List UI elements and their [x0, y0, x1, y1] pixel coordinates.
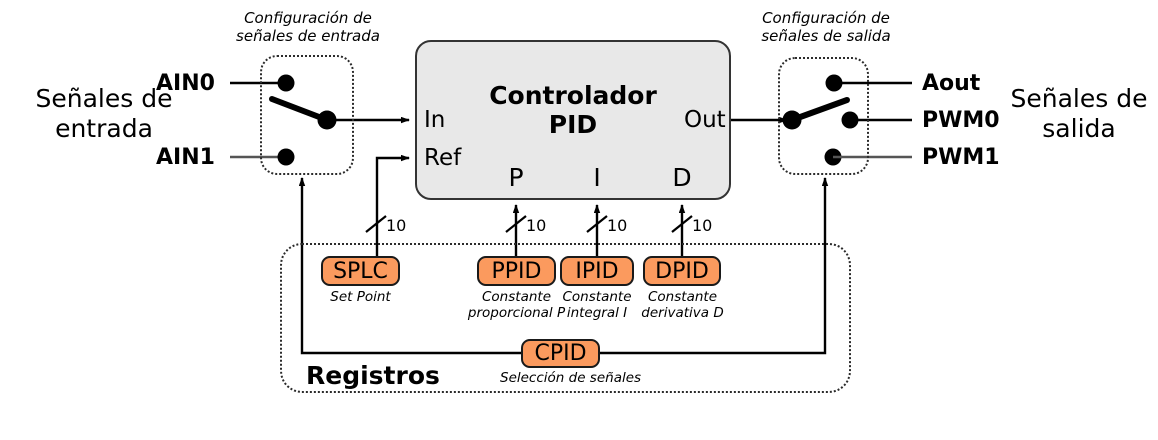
- input-config-caption-line2: señales de entrada: [222, 28, 394, 46]
- register-splc[interactable]: SPLC: [321, 256, 400, 286]
- pid-port-out: Out: [684, 107, 726, 134]
- bus-width-p: 10: [526, 217, 546, 236]
- input-group-line2: entrada: [4, 114, 204, 144]
- output-config-caption: Configuración de señales de salida: [740, 10, 912, 45]
- signal-label-pwm0: PWM0: [922, 108, 1000, 134]
- signal-label-ain1: AIN1: [156, 145, 215, 171]
- register-ipid-caption-line1: Constante: [550, 290, 644, 306]
- input-config-box[interactable]: [260, 55, 354, 175]
- output-config-box[interactable]: [778, 57, 869, 175]
- pid-port-in: In: [424, 107, 445, 134]
- signal-label-aout: Aout: [922, 71, 980, 97]
- output-signals-group-label: Señales de salida: [1000, 84, 1158, 143]
- output-group-line1: Señales de: [1000, 84, 1158, 114]
- register-cpid-caption: Selección de señales: [500, 371, 622, 387]
- register-ipid-caption: Constante integral I: [550, 290, 644, 322]
- register-ipid-caption-line2: integral I: [550, 306, 644, 322]
- register-dpid[interactable]: DPID: [643, 256, 721, 286]
- input-config-caption: Configuración de señales de entrada: [222, 10, 394, 45]
- pid-architecture-diagram: Controlador PID In Ref Out P I D 10 10 1…: [0, 0, 1158, 440]
- register-ipid[interactable]: IPID: [560, 256, 634, 286]
- bus-width-i: 10: [607, 217, 627, 236]
- register-dpid-caption-line2: derivativa D: [634, 306, 731, 322]
- output-config-caption-line1: Configuración de: [740, 10, 912, 28]
- bus-width-d: 10: [692, 217, 712, 236]
- pid-port-i: I: [587, 163, 607, 193]
- signal-label-pwm1: PWM1: [922, 145, 1000, 171]
- bus-width-splc: 10: [386, 217, 406, 236]
- output-group-line2: salida: [1000, 114, 1158, 144]
- register-ppid[interactable]: PPID: [477, 256, 556, 286]
- signal-label-ain0: AIN0: [156, 71, 215, 97]
- input-config-caption-line1: Configuración de: [222, 10, 394, 28]
- pid-port-ref: Ref: [424, 145, 461, 172]
- output-config-caption-line2: señales de salida: [740, 28, 912, 46]
- register-cpid[interactable]: CPID: [521, 339, 600, 368]
- pid-port-p: P: [506, 163, 526, 193]
- register-splc-caption: Set Point: [321, 290, 400, 306]
- register-dpid-caption-line1: Constante: [634, 290, 731, 306]
- registros-title: Registros: [306, 361, 440, 391]
- register-dpid-caption: Constante derivativa D: [634, 290, 731, 322]
- pid-port-d: D: [672, 163, 692, 193]
